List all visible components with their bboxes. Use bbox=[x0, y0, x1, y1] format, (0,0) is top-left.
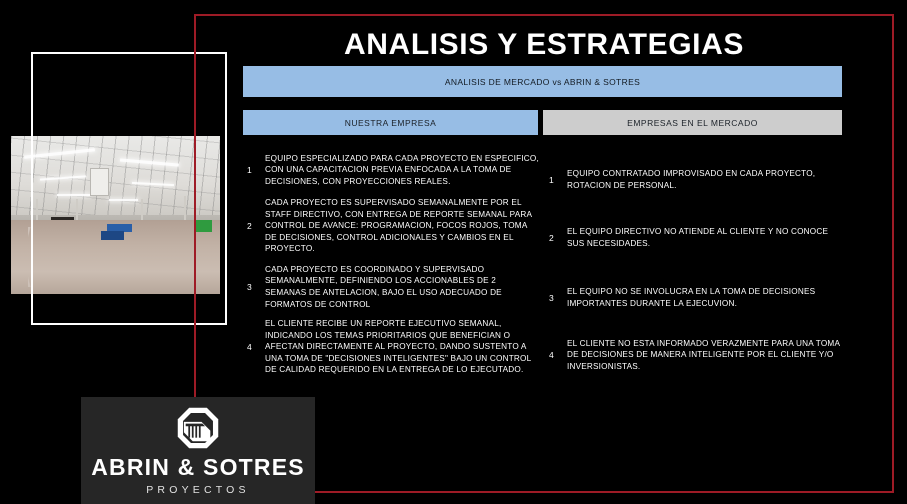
warehouse-interior-photo bbox=[11, 136, 220, 294]
photo-lamp-icon bbox=[109, 199, 138, 201]
photo-equipment bbox=[101, 231, 124, 240]
photo-equipment bbox=[195, 220, 212, 233]
list-item-number: 2 bbox=[549, 233, 567, 243]
list-item: 3 CADA PROYECTO ES COORDINADO Y SUPERVIS… bbox=[247, 260, 539, 314]
list-item: 3 EL EQUIPO NO SE INVOLUCRA EN LA TOMA D… bbox=[549, 269, 847, 326]
list-item: 1 EQUIPO CONTRATADO IMPROVISADO EN CADA … bbox=[549, 152, 847, 207]
list-item-number: 2 bbox=[247, 221, 265, 231]
our-company-list: 1 EQUIPO ESPECIALIZADO PARA CADA PROYECT… bbox=[247, 148, 539, 380]
photo-duct bbox=[90, 168, 109, 196]
list-item: 4 EL CLIENTE RECIBE UN REPORTE EJECUTIVO… bbox=[247, 314, 539, 380]
list-item: 1 EQUIPO ESPECIALIZADO PARA CADA PROYECT… bbox=[247, 148, 539, 192]
list-item: 2 CADA PROYECTO ES SUPERVISADO SEMANALME… bbox=[247, 192, 539, 260]
list-item: 2 EL EQUIPO DIRECTIVO NO ATIENDE AL CLIE… bbox=[549, 207, 847, 269]
list-item: 4 EL CLIENTE NO ESTA INFORMADO VERAZMENT… bbox=[549, 326, 847, 384]
list-item-number: 1 bbox=[247, 165, 265, 175]
page-title: ANALISIS Y ESTRATEGIAS bbox=[194, 28, 894, 62]
list-item-number: 1 bbox=[549, 175, 567, 185]
logo-subtitle: PROYECTOS bbox=[146, 484, 250, 496]
list-item-text: EL CLIENTE RECIBE UN REPORTE EJECUTIVO S… bbox=[265, 318, 539, 376]
list-item-text: CADA PROYECTO ES COORDINADO Y SUPERVISAD… bbox=[265, 264, 539, 310]
list-item-number: 4 bbox=[549, 350, 567, 360]
list-item-text: EL CLIENTE NO ESTA INFORMADO VERAZMENTE … bbox=[567, 338, 847, 373]
column-header-market-company: EMPRESAS EN EL MERCADO bbox=[543, 110, 842, 135]
photo-lamp-icon bbox=[57, 194, 90, 196]
list-item-number: 4 bbox=[247, 342, 265, 352]
list-item-text: EL EQUIPO DIRECTIVO NO ATIENDE AL CLIENT… bbox=[567, 226, 847, 249]
octagon-column-logo-icon bbox=[175, 406, 221, 450]
list-item-number: 3 bbox=[549, 293, 567, 303]
column-header-our-company: NUESTRA EMPRESA bbox=[243, 110, 538, 135]
list-item-text: CADA PROYECTO ES SUPERVISADO SEMANALMENT… bbox=[265, 197, 539, 255]
list-item-number: 3 bbox=[247, 282, 265, 292]
logo-company-name: ABRIN & SOTRES bbox=[91, 454, 305, 481]
list-item-text: EQUIPO ESPECIALIZADO PARA CADA PROYECTO … bbox=[265, 153, 539, 188]
slide-canvas: ANALISIS Y ESTRATEGIAS ANALISIS DE MERCA… bbox=[0, 0, 907, 504]
company-logo: ABRIN & SOTRES PROYECTOS bbox=[81, 397, 315, 504]
market-company-list: 1 EQUIPO CONTRATADO IMPROVISADO EN CADA … bbox=[549, 152, 847, 384]
list-item-text: EL EQUIPO NO SE INVOLUCRA EN LA TOMA DE … bbox=[567, 286, 847, 309]
list-item-text: EQUIPO CONTRATADO IMPROVISADO EN CADA PR… bbox=[567, 168, 847, 191]
section-banner: ANALISIS DE MERCADO vs ABRIN & SOTRES bbox=[243, 66, 842, 97]
